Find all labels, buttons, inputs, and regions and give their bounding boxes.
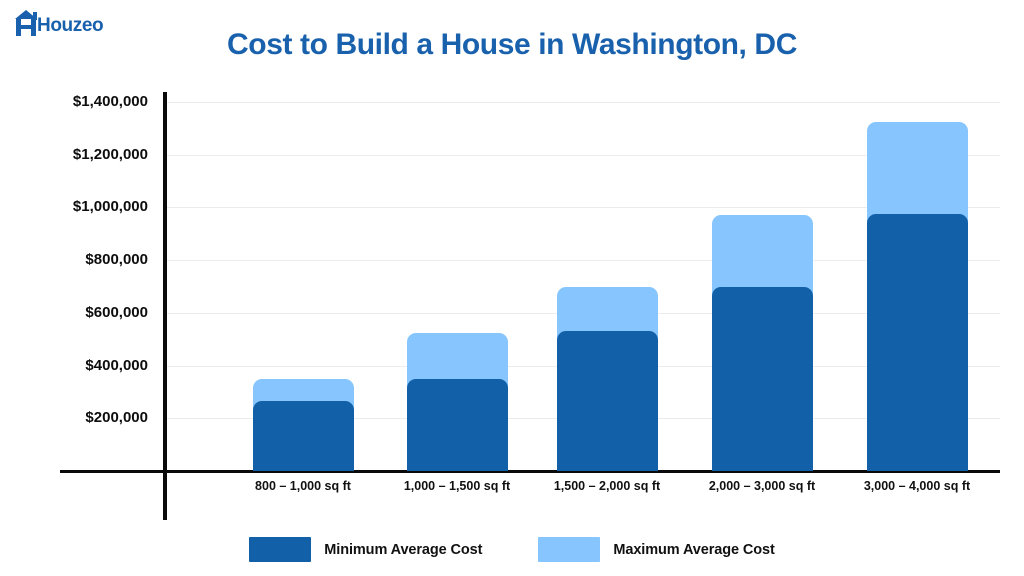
legend-swatch-maximum [538,537,600,562]
gridline [167,102,1000,103]
y-axis-tick-label: $1,200,000 [38,146,148,163]
legend-swatch-minimum [249,537,311,562]
bar-minimum-average-cost[interactable] [407,379,508,471]
y-axis-tick-label: $400,000 [38,357,148,374]
y-axis-tick-label: $200,000 [38,409,148,426]
bar-minimum-average-cost[interactable] [712,287,813,472]
legend-item-maximum[interactable]: Maximum Average Cost [538,537,774,562]
legend-label-maximum: Maximum Average Cost [613,542,774,558]
chart-page: Houzeo Cost to Build a House in Washingt… [0,0,1024,576]
legend-item-minimum[interactable]: Minimum Average Cost [249,537,482,562]
x-axis-tick-label: 800 – 1,000 sq ft [213,479,393,493]
chart-legend: Minimum Average Cost Maximum Average Cos… [0,537,1024,562]
y-axis-tick-label: $800,000 [38,251,148,268]
bar-minimum-average-cost[interactable] [867,214,968,471]
y-axis-tick-label: $600,000 [38,304,148,321]
y-axis-tick-label: $1,000,000 [38,198,148,215]
bar-minimum-average-cost[interactable] [253,401,354,471]
chart-plot-area: $200,000$400,000$600,000$800,000$1,000,0… [0,0,1024,576]
x-axis-line [60,470,1000,473]
x-axis-tick-label: 2,000 – 3,000 sq ft [672,479,852,493]
x-axis-tick-label: 3,000 – 4,000 sq ft [827,479,1007,493]
x-axis-tick-label: 1,500 – 2,000 sq ft [517,479,697,493]
y-axis-tick-label: $1,400,000 [38,93,148,110]
legend-label-minimum: Minimum Average Cost [324,542,482,558]
bar-minimum-average-cost[interactable] [557,331,658,471]
y-axis-line [163,92,167,520]
